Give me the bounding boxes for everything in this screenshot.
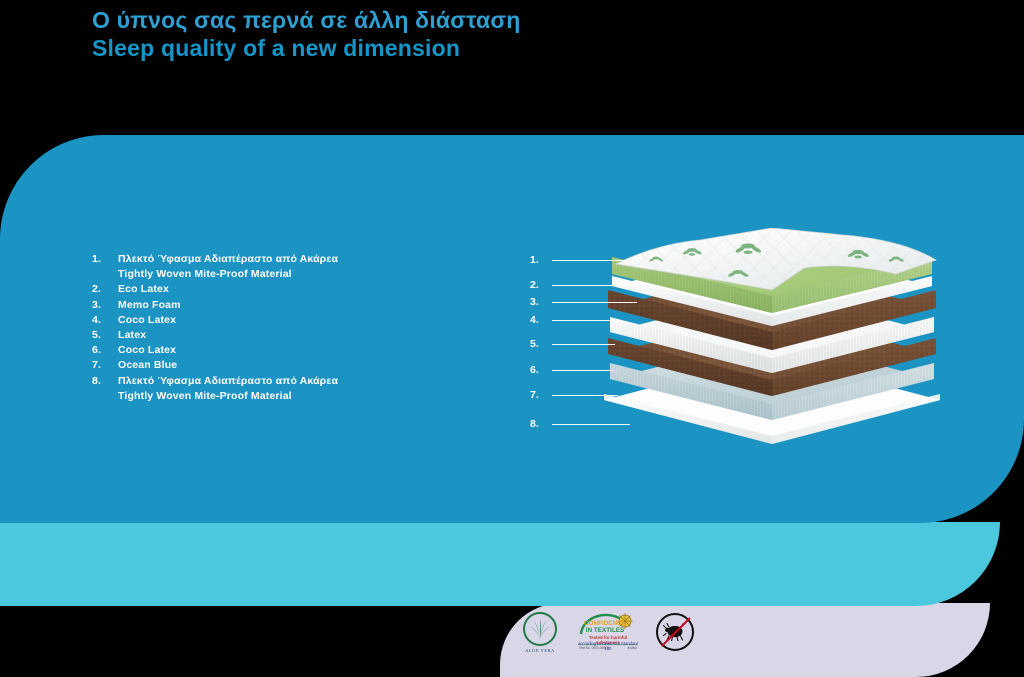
callout-number: 1.	[530, 254, 552, 266]
callout-8: 8.	[530, 418, 630, 430]
callout-4: 4.	[530, 314, 619, 326]
callout-number: 4.	[530, 314, 552, 326]
oeko-line2: IN TEXTILES	[577, 627, 633, 634]
legend-number: 2.	[92, 282, 118, 297]
callout-leader-line	[552, 302, 637, 303]
callout-number: 6.	[530, 364, 552, 376]
callout-number: 5.	[530, 338, 552, 350]
legend-row: 5.Latex	[92, 328, 422, 343]
legend-label-group: Coco Latex	[118, 343, 422, 358]
legend-label: Coco Latex	[118, 344, 176, 356]
legend-label: Coco Latex	[118, 314, 176, 326]
callout-number: 8.	[530, 418, 552, 430]
callout-number: 3.	[530, 296, 552, 308]
layer-legend-list: 1.Πλεκτό Ύφασμα Αδιαπέραστο από ΑκάρεαTi…	[92, 252, 422, 404]
mattress-callouts: 1.2.3.4.5.6.7.8.	[530, 246, 660, 426]
legend-number: 1.	[92, 252, 118, 267]
legend-row: 7.Ocean Blue	[92, 358, 422, 373]
callout-leader-line	[552, 285, 615, 286]
legend-label: Ocean Blue	[118, 359, 177, 371]
certification-badges: ALOE VERA CONFIDENCE IN TEXTILES Tested …	[516, 607, 702, 657]
legend-label-group: Coco Latex	[118, 313, 422, 328]
anti-mite-badge	[652, 609, 698, 655]
legend-number: 4.	[92, 313, 118, 328]
legend-number: 6.	[92, 343, 118, 358]
legend-number: 7.	[92, 358, 118, 373]
legend-row: 6.Coco Latex	[92, 343, 422, 358]
callout-2: 2.	[530, 279, 615, 291]
legend-label: Memo Foam	[118, 299, 181, 311]
legend-row: 3.Memo Foam	[92, 298, 422, 313]
headline-english: Sleep quality of a new dimension	[92, 34, 792, 62]
legend-label: Πλεκτό Ύφασμα Αδιαπέραστο από Ακάρεα	[118, 375, 338, 387]
callout-leader-line	[552, 424, 630, 425]
legend-label-group: Eco Latex	[118, 282, 422, 297]
legend-label-group: Memo Foam	[118, 298, 422, 313]
oeko-line5: Test No. 0000-00000	[579, 646, 609, 650]
poster-canvas: Ο ύπνος σας περνά σε άλλη διάσταση Sleep…	[0, 0, 1024, 677]
legend-number: 8.	[92, 374, 118, 389]
legend-label-group: Πλεκτό Ύφασμα Αδιαπέραστο από ΑκάρεαTigh…	[118, 374, 422, 404]
callout-3: 3.	[530, 296, 637, 308]
aloe-vera-icon	[523, 612, 557, 646]
legend-label: Πλεκτό Ύφασμα Αδιαπέραστο από Ακάρεα	[118, 253, 338, 265]
oeko-line6: Institut	[628, 646, 637, 650]
aloe-vera-badge: ALOE VERA	[516, 609, 564, 655]
headline-greek: Ο ύπνος σας περνά σε άλλη διάσταση	[92, 6, 792, 34]
legend-number: 5.	[92, 328, 118, 343]
legend-label: Latex	[118, 329, 146, 341]
callout-leader-line	[552, 395, 618, 396]
callout-leader-line	[552, 260, 627, 261]
callout-number: 7.	[530, 389, 552, 401]
legend-label-group: Latex	[118, 328, 422, 343]
legend-row: 8.Πλεκτό Ύφασμα Αδιαπέραστο από ΑκάρεαTi…	[92, 374, 422, 404]
legend-row: 4.Coco Latex	[92, 313, 422, 328]
callout-leader-line	[552, 320, 619, 321]
oeko-line1: CONFIDENCE	[577, 620, 633, 627]
legend-label: Eco Latex	[118, 283, 169, 295]
page-title: Ο ύπνος σας περνά σε άλλη διάσταση Sleep…	[92, 6, 792, 62]
callout-leader-line	[552, 344, 615, 345]
legend-number: 3.	[92, 298, 118, 313]
legend-label-group: Πλεκτό Ύφασμα Αδιαπέραστο από ΑκάρεαTigh…	[118, 252, 422, 282]
callout-leader-line	[552, 370, 613, 371]
callout-7: 7.	[530, 389, 618, 401]
legend-sublabel: Tightly Woven Mite-Proof Material	[118, 389, 422, 404]
legend-label-group: Ocean Blue	[118, 358, 422, 373]
legend-row: 2.Eco Latex	[92, 282, 422, 297]
callout-6: 6.	[530, 364, 613, 376]
legend-sublabel: Tightly Woven Mite-Proof Material	[118, 267, 422, 282]
anti-mite-icon	[656, 613, 694, 651]
oeko-tex-badge: CONFIDENCE IN TEXTILES Tested for harmfu…	[577, 609, 639, 655]
aloe-vera-caption: ALOE VERA	[525, 648, 555, 653]
callout-number: 2.	[530, 279, 552, 291]
callout-5: 5.	[530, 338, 615, 350]
callout-1: 1.	[530, 254, 627, 266]
legend-row: 1.Πλεκτό Ύφασμα Αδιαπέραστο από ΑκάρεαTi…	[92, 252, 422, 282]
decorative-panel-teal	[0, 522, 1000, 606]
